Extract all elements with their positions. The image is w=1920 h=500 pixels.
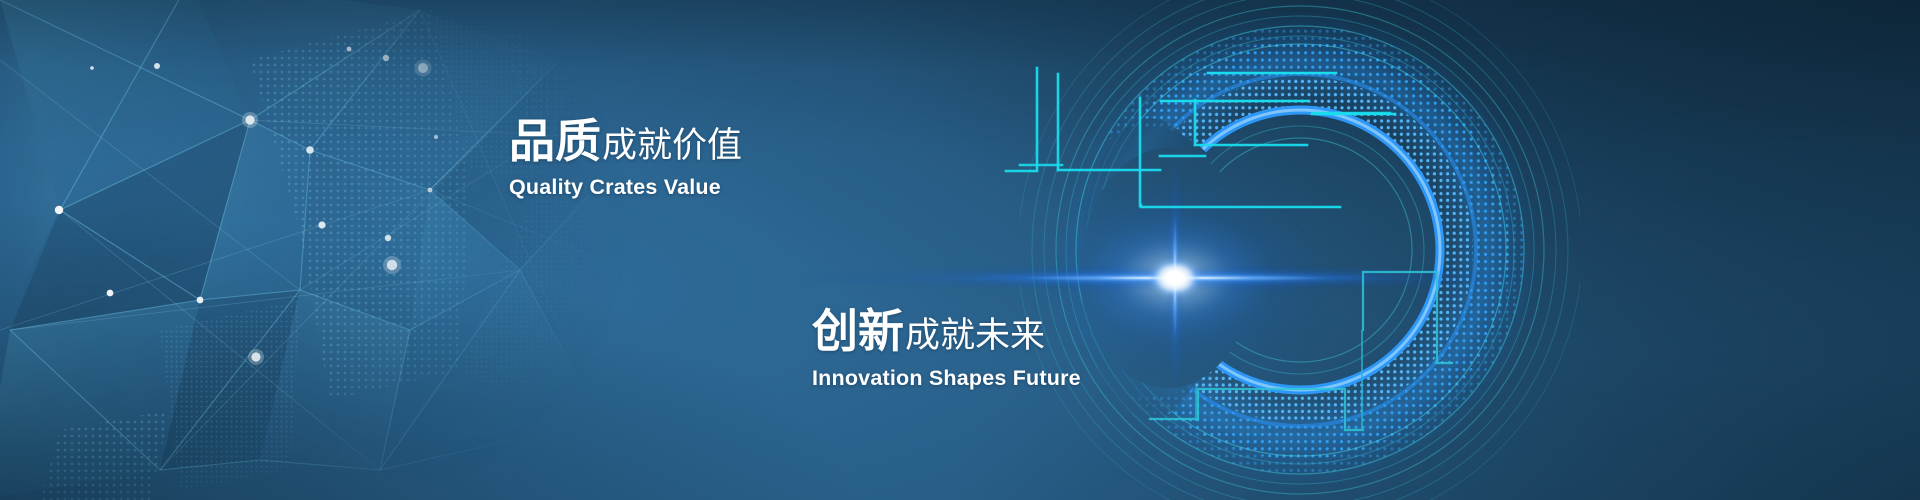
- slogan-innovation-subline: Innovation Shapes Future: [812, 366, 1081, 391]
- slogan-innovation-headline: 创新 成就未来: [812, 308, 1081, 354]
- slogan-quality-subline: Quality Crates Value: [509, 175, 742, 200]
- slogan-quality-headline-lead: 品质: [509, 118, 601, 164]
- hero-banner: 品质 成就价值 Quality Crates Value 创新 成就未来 Inn…: [0, 0, 1920, 500]
- slogan-quality: 品质 成就价值 Quality Crates Value: [509, 118, 742, 200]
- slogan-innovation: 创新 成就未来 Innovation Shapes Future: [812, 308, 1081, 391]
- slogan-innovation-headline-lead: 创新: [812, 308, 904, 354]
- background-top-shade: [0, 0, 1920, 500]
- slogan-innovation-headline-tail: 成就未来: [904, 318, 1045, 353]
- slogan-quality-headline: 品质 成就价值: [509, 118, 742, 164]
- slogan-quality-headline-tail: 成就价值: [601, 128, 742, 163]
